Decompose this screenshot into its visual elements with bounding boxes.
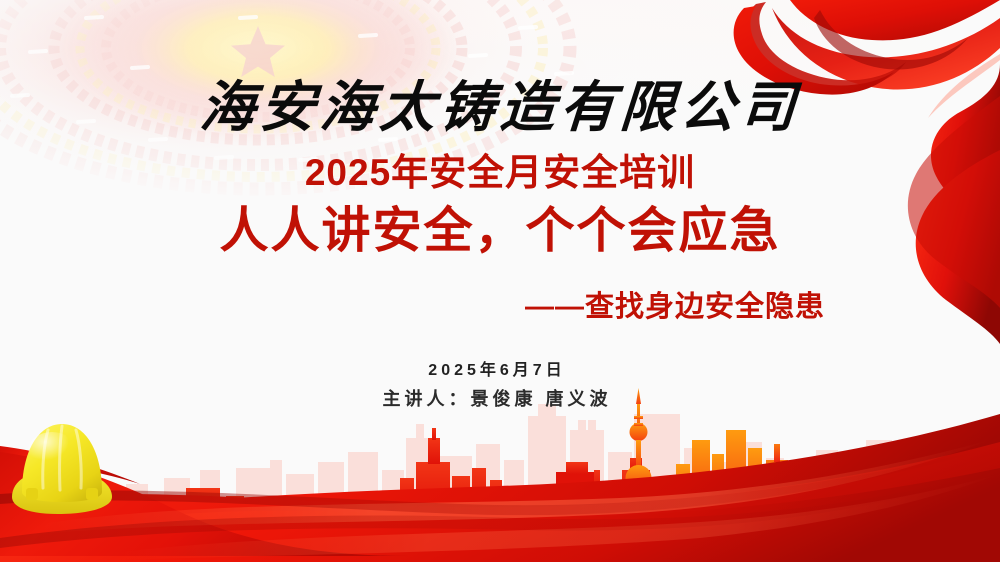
course-subtitle: 2025年安全月安全培训 (0, 153, 1000, 194)
presentation-date: 2025年6月7日 (0, 356, 1000, 380)
presenter-names: 主讲人：景俊康 唐义波 (0, 385, 1000, 411)
sub-slogan: ——查找身边安全隐患 (0, 291, 1000, 324)
main-slogan: 人人讲安全，个个会应急 (0, 203, 1000, 259)
page-title: 海安海太铸造有限公司 (0, 78, 1000, 137)
presentation-slide: 海安海太铸造有限公司 2025年安全月安全培训 人人讲安全，个个会应急 ——查找… (0, 0, 1000, 562)
skyline-pale-layer (126, 404, 968, 510)
five-point-star-icon (231, 26, 285, 77)
stadium-structure (556, 488, 636, 514)
